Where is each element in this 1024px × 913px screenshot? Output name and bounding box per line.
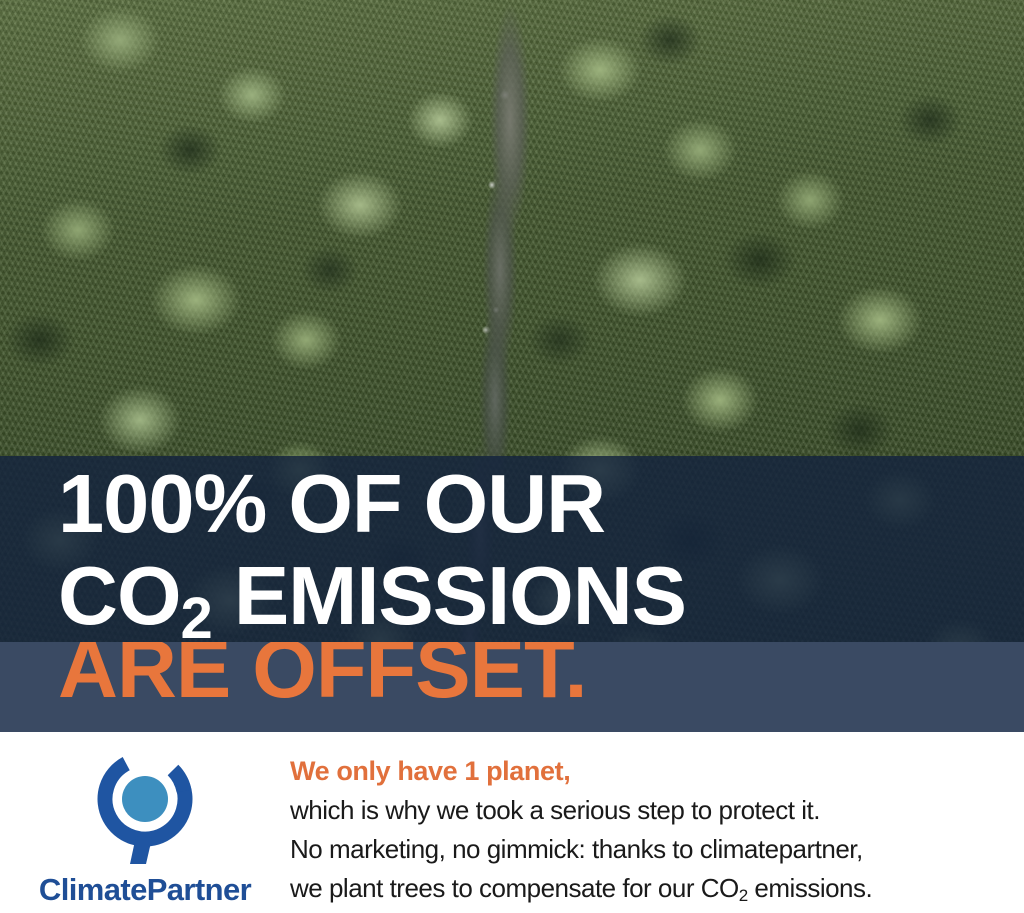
climatepartner-logo-icon [89, 750, 201, 868]
forest-photo-region: 100% OF OUR CO2 EMISSIONS [0, 0, 1024, 732]
copy-body-line-1: which is why we took a serious step to p… [290, 791, 1004, 830]
headline-block: 100% OF OUR CO2 EMISSIONS [58, 458, 978, 665]
copy-co2-subscript: 2 [739, 886, 748, 905]
are-offset-band: ARE OFFSET. [0, 642, 1024, 732]
copy-body-line-2: No marketing, no gimmick: thanks to clim… [290, 830, 1004, 869]
climatepartner-logo-block: ClimatePartner [0, 732, 290, 908]
copy-co2-suffix: emissions. [748, 873, 873, 903]
headline-line-1: 100% OF OUR [58, 458, 978, 550]
climatepartner-wordmark: ClimatePartner [39, 872, 251, 908]
offset-poster: 100% OF OUR CO2 EMISSIONS ARE OFFSET. [0, 0, 1024, 913]
headline-co2-prefix: CO [58, 549, 181, 642]
footer: ClimatePartner We only have 1 planet, wh… [0, 732, 1024, 913]
headline-emissions-word: EMISSIONS [212, 549, 686, 642]
footer-copy-block: We only have 1 planet, which is why we t… [290, 732, 1024, 913]
copy-co2-prefix: we plant trees to compensate for our CO [290, 873, 739, 903]
copy-lead-line: We only have 1 planet, [290, 752, 1004, 791]
headline-line-3: ARE OFFSET. [58, 642, 587, 715]
copy-body-line-3: we plant trees to compensate for our CO2… [290, 869, 1004, 913]
